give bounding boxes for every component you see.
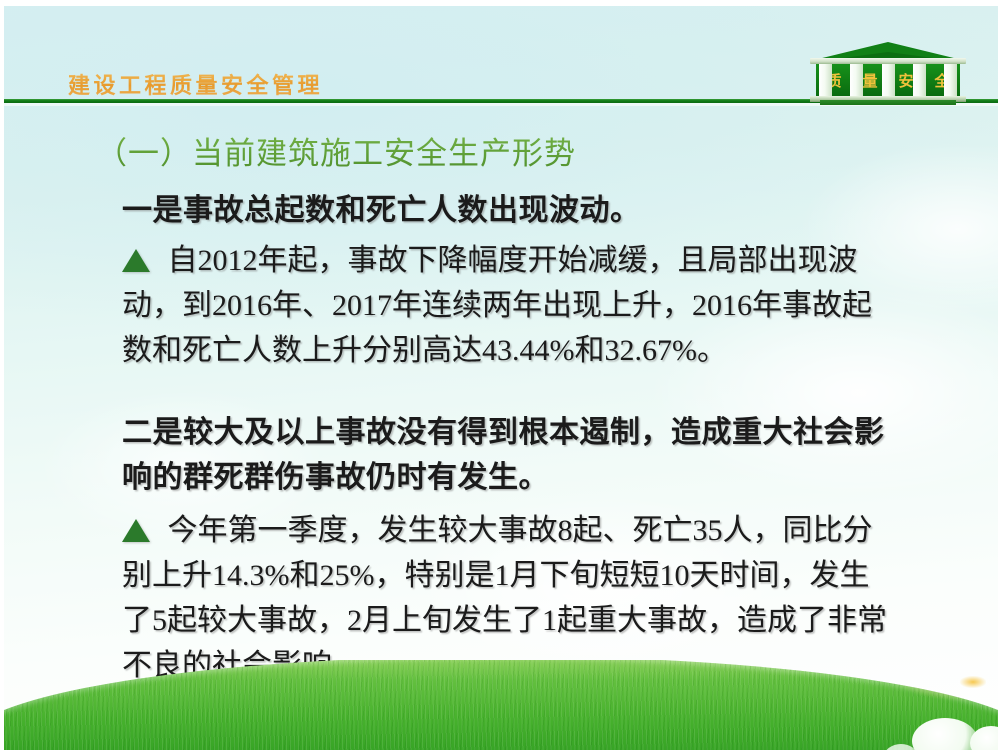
header-title: 建设工程质量安全管理: [68, 68, 323, 100]
triangle-bullet-icon: [122, 519, 150, 542]
temple-columns: [816, 64, 960, 96]
paragraph-lead-2: 二是较大及以上事故没有得到根本遏制，造成重大社会影响的群死群伤事故仍时有发生。: [122, 410, 892, 500]
temple-column: [882, 64, 895, 96]
paragraph-detail-1: 自2012年起，事故下降幅度开始减缓，且局部出现波动，到2016年、2017年连…: [122, 238, 890, 373]
paragraph-text: 一是事故总起数和死亡人数出现波动。: [122, 194, 641, 227]
temple-base: [820, 100, 956, 105]
temple-column: [850, 64, 863, 96]
presentation-slide: 建设工程质量安全管理 质 量 安 全: [0, 0, 1000, 750]
section-title: （一）当前建筑施工安全生产形势: [96, 128, 576, 173]
slide-canvas: 建设工程质量安全管理 质 量 安 全: [4, 6, 998, 750]
grass-texture-overlay: [4, 660, 998, 750]
triangle-bullet-icon: [122, 249, 150, 272]
temple-column: [819, 64, 832, 96]
paragraph-text: 二是较大及以上事故没有得到根本遏制，造成重大社会影响的群死群伤事故仍时有发生。: [122, 416, 885, 494]
paragraph-lead-1: 一是事故总起数和死亡人数出现波动。: [122, 188, 892, 233]
temple-column: [944, 64, 957, 96]
paragraph-text: 今年第一季度，发生较大事故8起、死亡35人，同比分别上升14.3%和25%，特别…: [122, 514, 887, 682]
sun-flare-icon: [960, 676, 986, 688]
slide-header: 建设工程质量安全管理 质 量 安 全: [4, 6, 998, 106]
paragraph-text: 自2012年起，事故下降幅度开始减缓，且局部出现波动，到2016年、2017年连…: [122, 244, 872, 367]
temple-column: [913, 64, 926, 96]
quality-safety-temple-logo: 质 量 安 全: [810, 42, 966, 106]
grass-hill-decoration: [4, 660, 998, 750]
